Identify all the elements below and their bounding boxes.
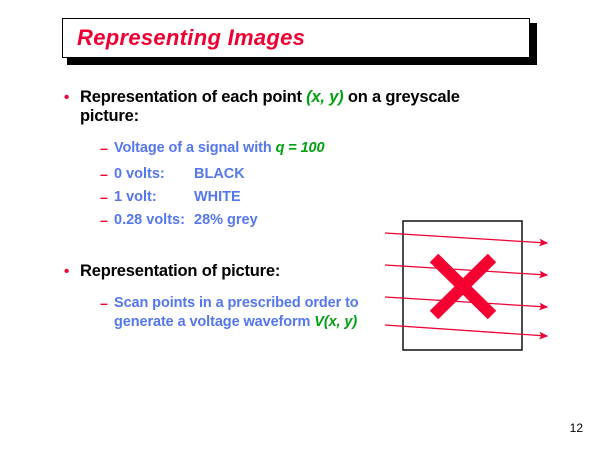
scan-line-1 [385, 233, 547, 243]
scan-line-4 [385, 325, 547, 336]
sub-bullet-text: Voltage of a signal with q = 100 [114, 139, 324, 158]
sub-bullet-dash-icon: – [100, 294, 114, 313]
sub-bullet-emphasis-q: q = 100 [276, 140, 325, 156]
sub-bullet-label: 1 volt: [114, 188, 194, 207]
bullet-marker-icon: • [64, 262, 80, 281]
bullet-text-before: Representation of each point [80, 88, 306, 106]
sub-bullet-scan-points: – Scan points in a prescribed order to g… [100, 294, 370, 332]
sub-bullet-0-volts: – 0 volts:BLACK [100, 165, 430, 184]
bullet-text: Representation of picture: [80, 262, 280, 281]
sub-bullet-value: 28% grey [194, 212, 258, 228]
sub-bullet-text: Scan points in a prescribed order to gen… [114, 294, 370, 332]
sub-bullet-dash-icon: – [100, 211, 114, 230]
x-mark-shape [434, 258, 492, 315]
scan-line-2 [385, 265, 547, 275]
sub-bullet-text-before: Voltage of a signal with [114, 140, 276, 156]
slide-content: • Representation of each point (x, y) on… [0, 0, 600, 450]
sub-bullet-voltage-signal: – Voltage of a signal with q = 100 [100, 139, 430, 158]
sub-bullet-dash-icon: – [100, 165, 114, 184]
page-number: 12 [570, 421, 583, 435]
bullet-marker-icon: • [64, 88, 80, 107]
sub-bullet-row: 0 volts:BLACK [114, 165, 245, 184]
sub-bullet-row: 0.28 volts:28% grey [114, 211, 258, 230]
scan-line-3 [385, 297, 547, 307]
bullet-text: Representation of each point (x, y) on a… [80, 88, 484, 126]
bullet-emphasis-xy: (x, y) [306, 88, 343, 106]
sub-bullet-label: 0.28 volts: [114, 211, 194, 230]
bullet-item-representation-picture: • Representation of picture: [64, 262, 394, 281]
sub-bullet-dash-icon: – [100, 139, 114, 158]
sub-bullet-value: WHITE [194, 189, 241, 205]
sub-bullet-row: 1 volt:WHITE [114, 188, 241, 207]
sub-bullet-emphasis-vxy: V(x, y) [314, 314, 357, 330]
sub-bullet-dash-icon: – [100, 188, 114, 207]
sub-bullet-label: 0 volts: [114, 165, 194, 184]
raster-scan-diagram [375, 205, 575, 365]
sub-bullet-value: BLACK [194, 166, 245, 182]
bullet-item-representation-point: • Representation of each point (x, y) on… [64, 88, 484, 126]
